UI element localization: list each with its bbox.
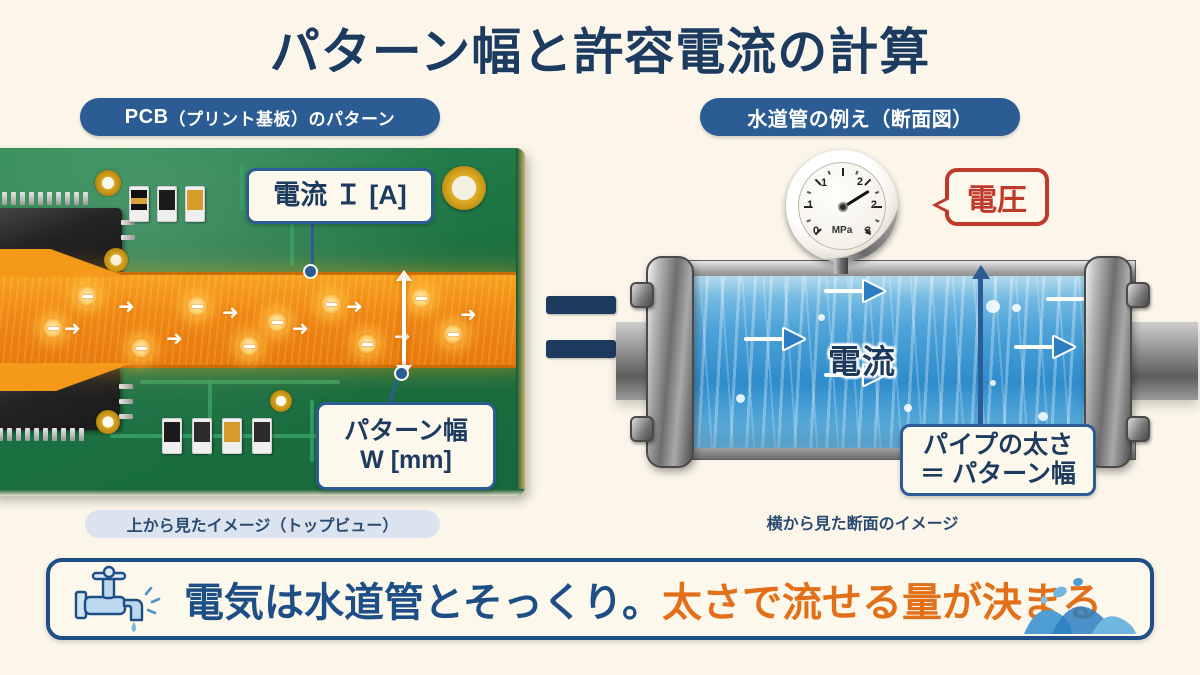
gauge-tick — [864, 179, 871, 186]
pcb-edge — [0, 489, 525, 496]
pipe-stub-right — [1128, 322, 1198, 400]
copper-trace: ➜ ➜ ➜ ➜ ➜ ➜ ➜ ➜ — [0, 272, 525, 368]
callout-current: 電流 Ｉ [A] — [246, 168, 434, 224]
flow-arrow-icon: ➜ — [346, 297, 363, 317]
callout-anchor-dot — [305, 266, 316, 277]
equals-operator — [546, 296, 616, 358]
gauge-tick-label-2: 2 — [871, 199, 877, 211]
smd-resistor — [185, 186, 205, 222]
pcb-via — [96, 410, 120, 434]
water-bubble — [904, 404, 912, 412]
ic-chip-pins — [0, 192, 88, 205]
callout-trace-width: パターン幅 W [mm] — [316, 402, 496, 490]
trace-taper — [0, 363, 180, 391]
water-bubble — [1038, 412, 1048, 421]
gauge-tick-label-1: 1 — [807, 199, 813, 211]
pipe-bolt — [630, 282, 654, 308]
smd-resistor — [222, 418, 242, 454]
water-splash-icon — [1022, 574, 1142, 636]
water-flow-arrow-icon — [1014, 332, 1078, 362]
callout-current-label: 電流 Ｉ [A] — [273, 180, 406, 211]
callout-trace-width-line1: パターン幅 — [344, 417, 468, 446]
caption-pcb: 上から見たイメージ（トップビュー） — [85, 510, 440, 538]
section-badge-pipe: 水道管の例え（断面図） — [700, 98, 1020, 136]
electron-particle — [356, 333, 378, 355]
smd-resistor — [192, 418, 212, 454]
callout-pipe-thickness: パイプの太さ ＝ パターン幅 — [900, 424, 1096, 496]
gauge-tick — [827, 171, 830, 175]
trace-width-measure-arrow — [396, 270, 412, 376]
caption-pipe-label: 横から見た断面のイメージ — [767, 510, 959, 534]
water-bubble — [1012, 304, 1021, 312]
caption-pipe: 横から見た断面のイメージ — [720, 508, 1005, 536]
pcb-mounting-hole — [442, 166, 486, 210]
trace-taper — [0, 249, 170, 277]
callout-voltage-label: 電圧 — [967, 175, 1027, 219]
electron-particle — [320, 293, 342, 315]
gauge-tick — [842, 168, 844, 176]
electron-particle — [442, 323, 464, 345]
electron-particle — [42, 317, 64, 339]
section-badge-pcb-main: PCB — [125, 106, 169, 129]
gauge-tick — [807, 220, 811, 223]
pipe-bolt — [1126, 282, 1150, 308]
electron-particle — [76, 285, 98, 307]
pcb-trace — [240, 164, 244, 210]
banner-text-blue: 電気は水道管とそっくり。 — [184, 581, 662, 625]
electron-particle — [130, 337, 152, 359]
smd-resistor — [252, 418, 272, 454]
section-badge-pcb: PCB （プリント基板）のパターン — [80, 98, 440, 136]
flow-arrow-icon: ➜ — [64, 319, 81, 339]
flow-arrow-icon: ➜ — [118, 297, 135, 317]
pcb-trace — [310, 400, 314, 462]
gauge-inner-tick-label-1: 1 — [821, 177, 827, 189]
gauge-tick — [855, 170, 858, 174]
page-title: パターン幅と許容電流の計算 — [0, 12, 1200, 84]
ic-chip-pins — [121, 220, 135, 240]
flow-arrow-icon: ➜ — [292, 319, 309, 339]
electron-particle — [238, 335, 260, 357]
pipe-flow-label: 電流 — [828, 335, 896, 383]
summary-banner: 電気は水道管とそっくり。太さで流せる量が決まる — [46, 558, 1154, 640]
pcb-edge — [516, 148, 525, 496]
electron-particle — [266, 311, 288, 333]
pipe-bolt — [630, 416, 654, 442]
callout-anchor-dot — [396, 368, 407, 379]
flow-arrow-icon: ➜ — [166, 329, 183, 349]
water-bubble — [736, 394, 745, 403]
callout-leader-line — [311, 224, 314, 270]
ic-chip-pins — [0, 428, 84, 441]
section-badge-pcb-sub: （プリント基板）のパターン — [169, 105, 396, 130]
gauge-tick — [807, 191, 811, 194]
gauge-tick — [875, 219, 879, 222]
water-flow-arrow-icon — [824, 276, 888, 306]
gauge-inner-tick-label-2: 2 — [857, 176, 863, 188]
banner-text: 電気は水道管とそっくり。太さで流せる量が決まる — [184, 570, 1102, 628]
pcb-via — [95, 170, 121, 196]
pressure-gauge: 0 1 1 2 2 3 MPa — [786, 150, 898, 262]
gauge-tick — [875, 191, 879, 194]
electron-particle — [186, 295, 208, 317]
gauge-face: 0 1 1 2 2 3 MPa — [798, 162, 886, 250]
gauge-stem — [834, 258, 848, 274]
caption-pcb-label: 上から見たイメージ（トップビュー） — [127, 512, 399, 536]
infographic-canvas: パターン幅と許容電流の計算 PCB （プリント基板）のパターン 水道管の例え（断… — [0, 0, 1200, 675]
pcb-via — [270, 390, 292, 412]
pipe-bolt — [1126, 416, 1150, 442]
water-bubble — [818, 314, 825, 321]
smd-resistor — [129, 186, 149, 222]
callout-pipe-thickness-line1: パイプの太さ — [923, 431, 1073, 460]
flow-arrow-icon: ➜ — [222, 303, 239, 323]
smd-resistor — [162, 418, 182, 454]
callout-trace-width-line2: W [mm] — [360, 446, 452, 475]
water-flow-arrow-icon — [744, 324, 808, 354]
smd-resistor — [157, 186, 177, 222]
callout-pipe-thickness-line2: ＝ パターン幅 — [920, 460, 1076, 489]
flow-arrow-icon: ➜ — [460, 305, 477, 325]
gauge-unit-label: MPa — [799, 225, 885, 236]
water-bubble — [990, 380, 996, 386]
callout-voltage: 電圧 — [945, 168, 1049, 226]
faucet-icon — [68, 564, 176, 634]
electron-particle — [410, 287, 432, 309]
gauge-hub — [838, 202, 848, 212]
section-badge-pipe-label: 水道管の例え（断面図） — [747, 103, 973, 132]
callout-voltage-tail — [932, 196, 949, 214]
